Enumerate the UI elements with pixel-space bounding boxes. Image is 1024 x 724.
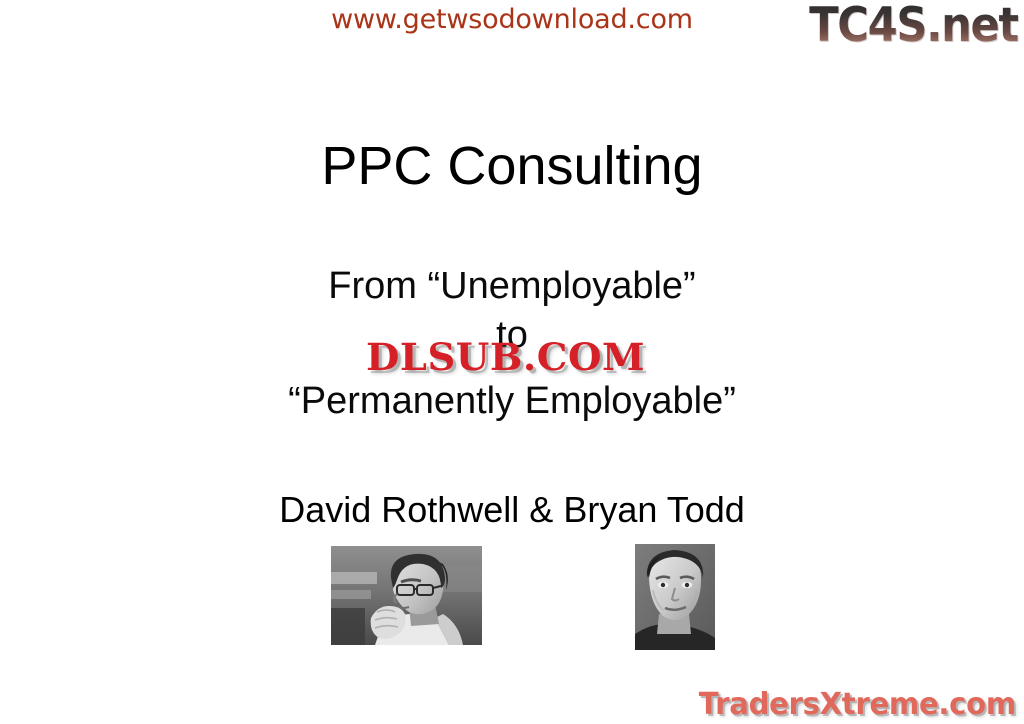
watermark-dlsub-logo: DLSUB.COM (366, 335, 645, 379)
photo-bryan-todd-image (635, 544, 715, 650)
subtitle-line-permanently-employable: “Permanently Employable” (0, 380, 1024, 424)
photo-david-rothwell (331, 546, 482, 645)
watermark-dlsub-text: DLSUB.COM (366, 335, 645, 379)
slide-authors: David Rothwell & Bryan Todd (0, 489, 1024, 531)
photo-bryan-todd (635, 544, 715, 650)
slide-title: PPC Consulting (0, 137, 1024, 196)
subtitle-line-from: From “Unemployable” (0, 265, 1024, 309)
photo-david-rothwell-image (331, 546, 482, 645)
watermark-tradersxtreme: TradersXtreme.com (699, 687, 1016, 722)
watermark-tc4s-logo: TC4S.net (809, 0, 1018, 53)
presentation-slide: www.getwsodownload.com TC4S.net PPC Cons… (0, 0, 1024, 724)
